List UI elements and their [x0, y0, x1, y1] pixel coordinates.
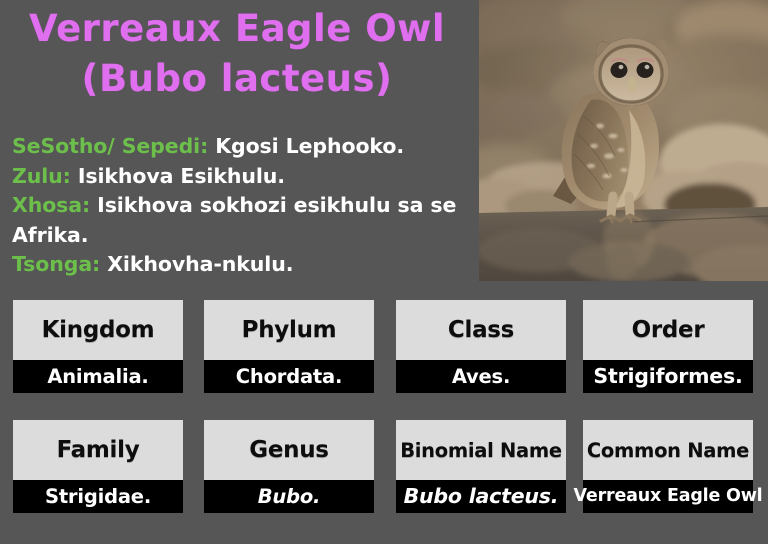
taxonomy-rank-header: Order [583, 300, 753, 360]
name-row-tsonga: Tsonga: Xikhovha-nkulu. [12, 250, 474, 280]
language-value-sesotho-sepedi: Kgosi Lephooko. [215, 134, 404, 158]
name-row-zulu: Zulu: Isikhova Esikhulu. [12, 162, 474, 192]
taxonomy-value-label: Chordata. [236, 366, 342, 387]
taxonomy-rank-header: Common Name [583, 420, 753, 480]
taxonomy-card-phylum: Phylum Chordata. [204, 300, 374, 393]
taxonomy-rank-header: Binomial Name [396, 420, 566, 480]
language-value-zulu: Isikhova Esikhulu. [78, 164, 285, 188]
language-label-zulu: Zulu: [12, 164, 71, 188]
taxonomy-rank-label: Order [632, 318, 705, 343]
vernacular-names-list: SeSotho/ Sepedi: Kgosi Lephooko. Zulu: I… [12, 132, 474, 280]
taxonomy-rank-label: Binomial Name [400, 438, 562, 463]
taxonomy-value-bar: Verreaux Eagle Owl [583, 480, 753, 513]
language-value-tsonga: Xikhovha-nkulu. [107, 252, 293, 276]
taxonomy-rank-label: Phylum [242, 318, 337, 343]
taxonomy-rank-header: Class [396, 300, 566, 360]
taxonomy-value-bar: Animalia. [13, 360, 183, 393]
taxonomy-card-class: Class Aves. [396, 300, 566, 393]
taxonomy-card-kingdom: Kingdom Animalia. [13, 300, 183, 393]
language-label-sesotho-sepedi: SeSotho/ Sepedi: [12, 134, 208, 158]
owl-photo-illustration [479, 0, 768, 281]
taxonomy-value-bar: Chordata. [204, 360, 374, 393]
taxonomy-value-label: Aves. [452, 366, 510, 387]
taxonomy-rank-label: Common Name [587, 438, 749, 463]
taxonomy-value-bar: Bubo. [204, 480, 374, 513]
taxonomy-rank-label: Class [448, 318, 514, 343]
taxonomy-card-order: Order Strigiformes. [583, 300, 753, 393]
title-line-scientific: (Bubo lacteus) [0, 54, 474, 104]
taxonomy-value-label: Verreaux Eagle Owl [574, 486, 763, 507]
taxonomy-rank-label: Genus [249, 438, 328, 463]
title-line-common: Verreaux Eagle Owl [0, 4, 474, 54]
page-title: Verreaux Eagle Owl (Bubo lacteus) [0, 4, 474, 104]
taxonomy-value-bar: Strigidae. [13, 480, 183, 513]
taxonomy-rank-label: Kingdom [42, 318, 155, 343]
owl-photo [479, 0, 768, 281]
taxonomy-card-binomial-name: Binomial Name Bubo lacteus. [396, 420, 566, 513]
name-row-xhosa: Xhosa: Isikhova sokhozi esikhulu sa se A… [12, 191, 474, 250]
taxonomy-value-label: Bubo lacteus. [404, 486, 559, 507]
taxonomy-rank-header: Kingdom [13, 300, 183, 360]
taxonomy-value-bar: Bubo lacteus. [396, 480, 566, 513]
taxonomy-value-label: Strigiformes. [593, 366, 742, 387]
taxonomy-rank-header: Family [13, 420, 183, 480]
infographic-poster: Verreaux Eagle Owl (Bubo lacteus) SeSoth… [0, 0, 768, 544]
taxonomy-value-bar: Strigiformes. [583, 360, 753, 393]
taxonomy-value-label: Strigidae. [45, 486, 151, 507]
taxonomy-value-bar: Aves. [396, 360, 566, 393]
taxonomy-card-common-name: Common Name Verreaux Eagle Owl [583, 420, 753, 513]
language-label-xhosa: Xhosa: [12, 193, 90, 217]
taxonomy-card-family: Family Strigidae. [13, 420, 183, 513]
name-row-sesotho-sepedi: SeSotho/ Sepedi: Kgosi Lephooko. [12, 132, 474, 162]
taxonomy-value-label: Bubo. [258, 486, 321, 507]
taxonomy-rank-header: Phylum [204, 300, 374, 360]
taxonomy-rank-header: Genus [204, 420, 374, 480]
taxonomy-value-label: Animalia. [47, 366, 148, 387]
language-label-tsonga: Tsonga: [12, 252, 100, 276]
taxonomy-card-genus: Genus Bubo. [204, 420, 374, 513]
taxonomy-rank-label: Family [57, 438, 140, 463]
